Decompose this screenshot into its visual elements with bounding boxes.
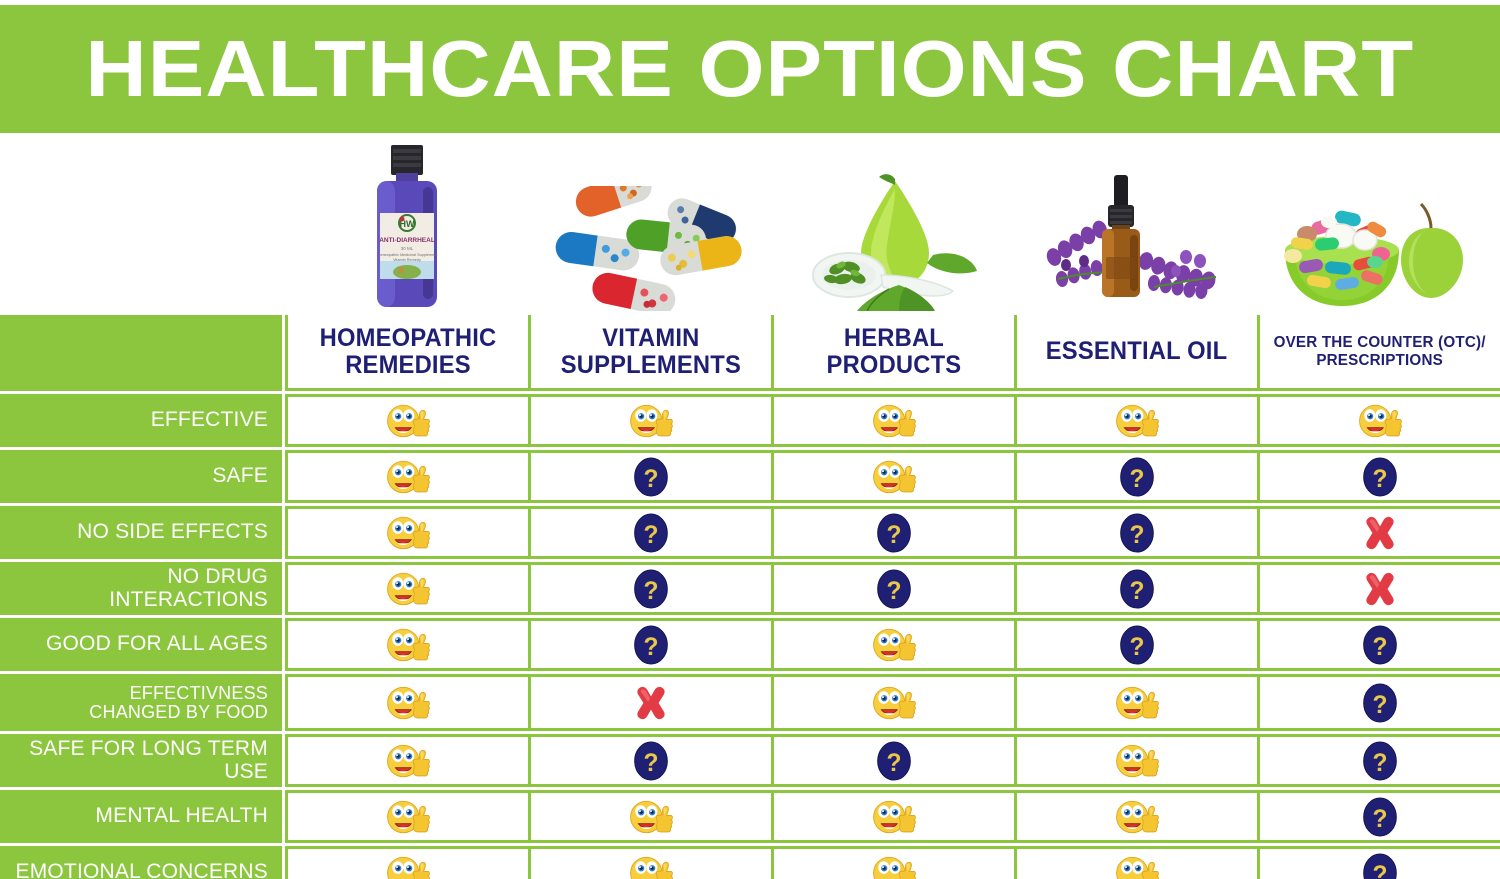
smiley-thumbs-up-icon: [386, 513, 430, 553]
homeopathic-remedy-bottle-icon: HW ANTI-DIARRHEAL 30 ML Homeopathic Medi…: [359, 143, 455, 311]
table-corner-cell: [0, 315, 282, 391]
table-row: SAFE FOR LONG TERM USE: [0, 734, 1500, 787]
cell-over-the-counter-otc-: [1257, 793, 1500, 840]
cell-vitamin: [528, 453, 771, 500]
row-label-line: SAFE: [212, 465, 268, 487]
smiley-thumbs-up-icon: [386, 457, 430, 497]
red-cross-icon: [1361, 571, 1399, 607]
smiley-thumbs-up-icon: [1115, 853, 1159, 879]
row-cells: [285, 734, 1500, 787]
red-cross-icon: [632, 685, 670, 721]
row-cells: [285, 846, 1500, 879]
row-label-effective: EFFECTIVE: [0, 394, 282, 447]
question-mark-icon: [632, 457, 670, 497]
cell-homeopathic: [285, 565, 528, 612]
smiley-thumbs-up-icon: [386, 853, 430, 879]
cell-herbal: [771, 509, 1014, 556]
row-label-no-side-effects: NO SIDE EFFECTS: [0, 506, 282, 559]
cell-vitamin: [528, 565, 771, 612]
table-row: SAFE: [0, 450, 1500, 503]
question-mark-icon: [1361, 683, 1399, 723]
question-mark-icon: [1361, 457, 1399, 497]
question-mark-icon: [1118, 457, 1156, 497]
cell-essential-oil: [1014, 453, 1257, 500]
table-row: NO SIDE EFFECTS: [0, 506, 1500, 559]
column-header-line1: OVER THE COUNTER (OTC)/: [1274, 334, 1486, 351]
question-mark-icon: [1118, 625, 1156, 665]
page-title: HEALTHCARE OPTIONS CHART: [86, 29, 1415, 109]
smiley-thumbs-up-icon: [386, 741, 430, 781]
question-mark-icon: [875, 513, 913, 553]
column-header-essential-oil: ESSENTIAL OIL: [1014, 315, 1257, 388]
smiley-thumbs-up-icon: [1115, 401, 1159, 441]
smiley-thumbs-up-icon: [872, 457, 916, 497]
row-cells: [285, 674, 1500, 731]
row-label-line: EFFECTIVNESS: [89, 684, 268, 703]
column-header-line2: REMEDIES: [345, 351, 471, 379]
product-image-herbal: [771, 140, 1014, 315]
cell-herbal: [771, 565, 1014, 612]
svg-text:Vitamin Remedy: Vitamin Remedy: [393, 258, 421, 262]
cell-homeopathic: [285, 677, 528, 728]
bowl-of-pills-with-apple-icon: [1271, 176, 1486, 311]
cell-homeopathic: [285, 849, 528, 879]
cell-vitamin: [528, 677, 771, 728]
row-label-emotional-concerns: EMOTIONAL CONCERNS: [0, 846, 282, 879]
row-label-line: GOOD FOR ALL AGES: [46, 633, 268, 655]
cell-over-the-counter-otc-: [1257, 849, 1500, 879]
cell-homeopathic: [285, 737, 528, 784]
product-image-vitamins: [528, 140, 771, 315]
table-row: GOOD FOR ALL AGES: [0, 618, 1500, 671]
smiley-thumbs-up-icon: [386, 569, 430, 609]
column-header-line1: ESSENTIAL OIL: [1046, 337, 1228, 365]
cell-vitamin: [528, 849, 771, 879]
row-cells: [285, 450, 1500, 503]
column-header-line2: PRESCRIPTIONS: [1317, 352, 1444, 369]
question-mark-icon: [1118, 569, 1156, 609]
column-header-vitamins: VITAMIN SUPPLEMENTS: [528, 315, 771, 388]
row-label-mental-health: MENTAL HEALTH: [0, 790, 282, 843]
cell-essential-oil: [1014, 565, 1257, 612]
question-mark-icon: [632, 625, 670, 665]
row-label-no-drug-interactions: NO DRUG INTERACTIONS: [0, 562, 282, 615]
table-body: EFFECTIVESAFENO SIDE EFFECTSNO DRUG INTE…: [0, 394, 1500, 879]
smiley-thumbs-up-icon: [629, 401, 673, 441]
row-label-line: NO SIDE EFFECTS: [77, 521, 268, 543]
smiley-thumbs-up-icon: [872, 853, 916, 879]
row-label-line: MENTAL HEALTH: [95, 805, 268, 827]
cell-over-the-counter-otc-: [1257, 677, 1500, 728]
column-header-otc: OVER THE COUNTER (OTC)/ PRESCRIPTIONS: [1257, 315, 1500, 388]
cell-over-the-counter-otc-: [1257, 397, 1500, 444]
smiley-thumbs-up-icon: [1115, 741, 1159, 781]
cell-herbal: [771, 453, 1014, 500]
cell-essential-oil: [1014, 737, 1257, 784]
product-image-homeopathic: HW ANTI-DIARRHEAL 30 ML Homeopathic Medi…: [285, 140, 528, 315]
essential-oil-dropper-bottle-lavender-icon: [1036, 161, 1236, 311]
cell-over-the-counter-otc-: [1257, 509, 1500, 556]
table-row: MENTAL HEALTH: [0, 790, 1500, 843]
cell-herbal: [771, 737, 1014, 784]
smiley-thumbs-up-icon: [386, 625, 430, 665]
question-mark-icon: [632, 513, 670, 553]
row-label-safe: SAFE: [0, 450, 282, 503]
table-header-row: HOMEOPATHIC REMEDIES VITAMIN SUPPLEMENTS…: [0, 315, 1500, 391]
row-cells: [285, 790, 1500, 843]
cell-homeopathic: [285, 621, 528, 668]
cell-vitamin: [528, 793, 771, 840]
header-cells: HOMEOPATHIC REMEDIES VITAMIN SUPPLEMENTS…: [285, 315, 1500, 391]
table-row: NO DRUG INTERACTIONS: [0, 562, 1500, 615]
table-row: EFFECTIVNESSCHANGED BY FOOD: [0, 674, 1500, 731]
cell-essential-oil: [1014, 621, 1257, 668]
table-row: EMOTIONAL CONCERNS: [0, 846, 1500, 879]
smiley-thumbs-up-icon: [872, 797, 916, 837]
question-mark-icon: [632, 741, 670, 781]
row-cells: [285, 394, 1500, 447]
column-header-line1: VITAMIN: [602, 324, 699, 352]
cell-herbal: [771, 849, 1014, 879]
cell-over-the-counter-otc-: [1257, 737, 1500, 784]
cell-essential-oil: [1014, 397, 1257, 444]
row-cells: [285, 618, 1500, 671]
comparison-table: HOMEOPATHIC REMEDIES VITAMIN SUPPLEMENTS…: [0, 315, 1500, 879]
cell-over-the-counter-otc-: [1257, 565, 1500, 612]
smiley-thumbs-up-icon: [386, 401, 430, 441]
question-mark-icon: [1361, 853, 1399, 879]
svg-text:30 ML: 30 ML: [400, 246, 413, 251]
red-cross-icon: [1361, 515, 1399, 551]
question-mark-icon: [1361, 625, 1399, 665]
column-header-herbal: HERBAL PRODUCTS: [771, 315, 1014, 388]
cell-herbal: [771, 677, 1014, 728]
row-label-good-for-all-ages: GOOD FOR ALL AGES: [0, 618, 282, 671]
herbal-leaves-droplet-icon: [795, 171, 990, 311]
cell-vitamin: [528, 737, 771, 784]
smiley-thumbs-up-icon: [386, 797, 430, 837]
smiley-thumbs-up-icon: [1115, 797, 1159, 837]
vitamin-capsules-icon: [550, 186, 750, 311]
smiley-thumbs-up-icon: [1115, 683, 1159, 723]
title-banner: HEALTHCARE OPTIONS CHART: [0, 5, 1500, 133]
cell-herbal: [771, 621, 1014, 668]
cell-vitamin: [528, 397, 771, 444]
row-label-effectivness-changed-by-food: EFFECTIVNESSCHANGED BY FOOD: [0, 674, 282, 731]
column-header-line2: SUPPLEMENTS: [561, 351, 741, 379]
cell-homeopathic: [285, 453, 528, 500]
row-label-line: SAFE FOR LONG TERM USE: [6, 738, 268, 782]
cell-essential-oil: [1014, 509, 1257, 556]
product-image-strip: HW ANTI-DIARRHEAL 30 ML Homeopathic Medi…: [285, 140, 1500, 315]
product-image-otc: [1257, 140, 1500, 315]
smiley-thumbs-up-icon: [1358, 401, 1402, 441]
question-mark-icon: [875, 569, 913, 609]
cell-essential-oil: [1014, 793, 1257, 840]
cell-homeopathic: [285, 793, 528, 840]
cell-essential-oil: [1014, 677, 1257, 728]
smiley-thumbs-up-icon: [629, 853, 673, 879]
svg-text:ANTI-DIARRHEAL: ANTI-DIARRHEAL: [379, 237, 435, 244]
row-label-line: EMOTIONAL CONCERNS: [15, 861, 268, 879]
smiley-thumbs-up-icon: [872, 683, 916, 723]
row-cells: [285, 562, 1500, 615]
smiley-thumbs-up-icon: [872, 401, 916, 441]
question-mark-icon: [1361, 797, 1399, 837]
column-header-line2: PRODUCTS: [827, 351, 962, 379]
question-mark-icon: [632, 569, 670, 609]
column-header-homeopathic: HOMEOPATHIC REMEDIES: [285, 315, 528, 388]
cell-homeopathic: [285, 509, 528, 556]
question-mark-icon: [1361, 741, 1399, 781]
cell-herbal: [771, 793, 1014, 840]
row-label-line: NO DRUG INTERACTIONS: [6, 566, 268, 610]
smiley-thumbs-up-icon: [629, 797, 673, 837]
smiley-thumbs-up-icon: [386, 683, 430, 723]
column-header-line1: HOMEOPATHIC: [320, 324, 497, 352]
product-image-essential-oil: [1014, 140, 1257, 315]
healthcare-options-chart-page: HEALTHCARE OPTIONS CHART HW AN: [0, 0, 1500, 879]
row-label-line: CHANGED BY FOOD: [89, 703, 268, 722]
cell-vitamin: [528, 509, 771, 556]
table-row: EFFECTIVE: [0, 394, 1500, 447]
cell-herbal: [771, 397, 1014, 444]
smiley-thumbs-up-icon: [872, 625, 916, 665]
cell-over-the-counter-otc-: [1257, 453, 1500, 500]
cell-homeopathic: [285, 397, 528, 444]
row-label-safe-for-long-term-use: SAFE FOR LONG TERM USE: [0, 734, 282, 787]
question-mark-icon: [875, 741, 913, 781]
question-mark-icon: [1118, 513, 1156, 553]
svg-text:Homeopathic Medicinal Suppleme: Homeopathic Medicinal Supplement: [376, 253, 438, 257]
cell-over-the-counter-otc-: [1257, 621, 1500, 668]
row-label-line: EFFECTIVE: [151, 409, 268, 431]
cell-vitamin: [528, 621, 771, 668]
row-cells: [285, 506, 1500, 559]
column-header-line1: HERBAL: [844, 324, 944, 352]
cell-essential-oil: [1014, 849, 1257, 879]
